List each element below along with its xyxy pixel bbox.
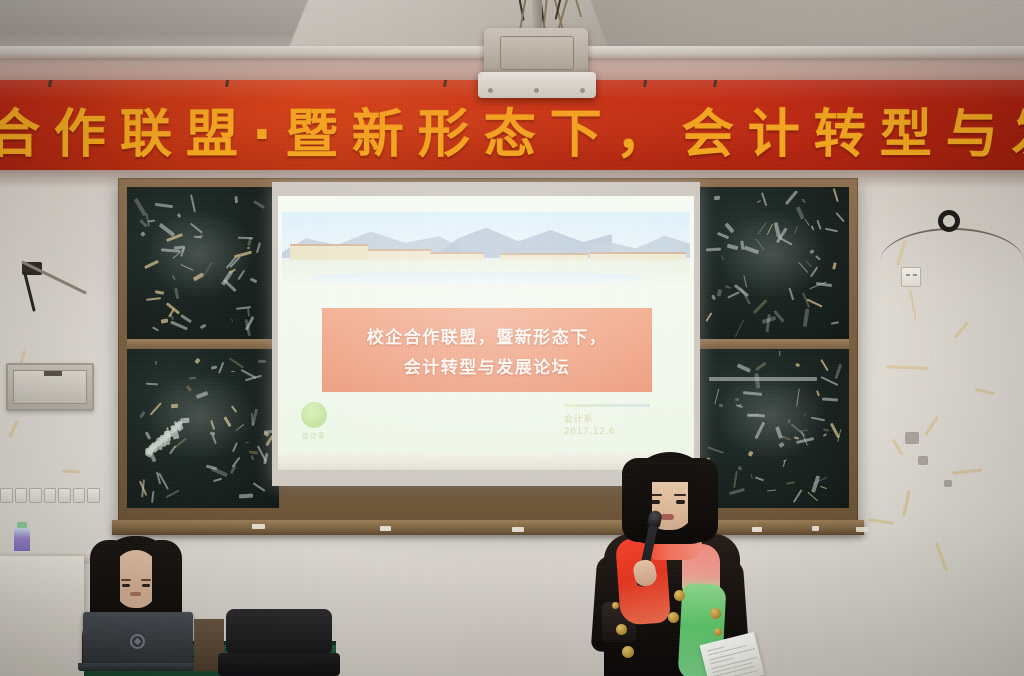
chalk-smudge — [145, 371, 255, 461]
power-outlet[interactable] — [15, 488, 28, 503]
chalk-mark — [145, 297, 160, 301]
panel-latch[interactable] — [44, 371, 62, 376]
gold-button — [612, 602, 619, 609]
gold-button — [714, 628, 722, 636]
gold-button — [710, 608, 721, 619]
chair-seat — [218, 653, 340, 676]
slide-logo-text: 会计系 — [302, 431, 326, 441]
chalk-mark — [830, 422, 840, 437]
projector-panel — [500, 36, 574, 70]
chalk-mark — [757, 200, 761, 203]
wall-socket[interactable] — [901, 267, 921, 287]
chalk-mark — [825, 228, 838, 232]
slide-credit-date: 2017.12.6 — [564, 427, 615, 437]
power-outlet[interactable] — [29, 488, 42, 503]
chalk-mark — [155, 361, 158, 366]
chalk-mark — [793, 489, 803, 503]
chair[interactable] — [216, 609, 342, 676]
chalk-mark — [779, 351, 781, 356]
chalk-mark — [218, 362, 224, 374]
eye — [651, 500, 660, 504]
wall-scuff — [905, 432, 919, 444]
podium — [0, 556, 84, 676]
chalk-mark — [761, 193, 768, 207]
chalk-mark — [245, 442, 250, 444]
chalk-mark — [834, 364, 842, 379]
chalkboard-top-right — [699, 187, 849, 339]
laptop-lid — [83, 612, 193, 664]
electrical-panel — [6, 363, 94, 411]
chalk-mark — [258, 360, 266, 363]
chalk-mark — [820, 359, 828, 371]
projector — [478, 0, 596, 104]
logo-circle-icon — [301, 402, 327, 428]
power-outlet[interactable] — [73, 488, 86, 503]
eye — [142, 584, 150, 587]
chalk-smudge — [145, 209, 255, 299]
chalk-mark — [832, 262, 837, 270]
chalk-piece[interactable] — [512, 527, 524, 532]
campus-lake — [312, 272, 642, 284]
chalk-mark — [165, 490, 179, 499]
chalk-mark — [833, 188, 839, 202]
chalk-smudge — [717, 371, 827, 461]
chalk-mark — [711, 295, 716, 301]
chalk-mark — [803, 309, 809, 327]
chalk-mark — [774, 310, 786, 323]
slide-department-logo: 会计系 — [294, 402, 334, 448]
power-outlet[interactable] — [58, 488, 71, 503]
chalk-mark — [755, 362, 767, 371]
chair-backrest — [226, 609, 332, 653]
campus-panorama-image — [282, 212, 690, 288]
chalk-mark — [229, 357, 244, 368]
chalk-mark — [835, 212, 844, 222]
slide-title-line-2: 会计转型与发展论坛 — [404, 353, 571, 378]
banner-clip — [48, 80, 53, 87]
chalk-piece[interactable] — [812, 526, 819, 531]
banner-clip — [713, 80, 718, 87]
chalk-mark — [735, 320, 744, 337]
seated-operator-mouth — [130, 592, 141, 596]
chalk-piece[interactable] — [380, 526, 391, 531]
eyebrow — [674, 494, 686, 496]
chalk-mark — [831, 321, 839, 325]
chalk-mark — [725, 285, 731, 289]
wall-ring-hook-icon — [938, 210, 960, 232]
banner-clip — [225, 80, 230, 87]
chalk-mark — [786, 482, 795, 485]
projection-screen: 校企合作联盟，暨新形态下， 会计转型与发展论坛 会计系 会计系 2017.12.… — [272, 182, 700, 486]
chalk-mark — [195, 358, 201, 364]
chalk-piece[interactable] — [856, 527, 868, 532]
chalk-mark — [728, 291, 740, 298]
ceiling-beam-right — [591, 0, 1024, 52]
projector-screw — [580, 88, 585, 93]
slide-credit-org: 会计系 — [564, 412, 593, 425]
chalk-mark — [151, 491, 155, 503]
chalkboard-bottom-left — [127, 349, 279, 508]
chalk-mark — [180, 314, 192, 323]
eye — [676, 500, 685, 504]
chalk-mark — [250, 278, 258, 284]
chalk-mark — [767, 489, 776, 491]
chalk-mark — [141, 232, 146, 237]
slide-content: 校企合作联盟，暨新形态下， 会计转型与发展论坛 会计系 会计系 2017.12.… — [278, 196, 694, 470]
chalk-mark — [211, 366, 218, 370]
chalk-mark — [231, 318, 233, 322]
chalkboard-top-left — [127, 187, 279, 339]
projector-screw — [534, 88, 539, 93]
chalk-mark — [765, 315, 770, 333]
chalk-mark — [200, 324, 206, 329]
chalk-mark — [264, 453, 269, 465]
power-outlet[interactable] — [44, 488, 57, 503]
power-outlet[interactable] — [0, 488, 13, 503]
projector-screw — [488, 88, 493, 93]
chalk-mark — [231, 371, 235, 373]
eyebrow — [121, 579, 131, 581]
chalk-mark — [148, 219, 155, 222]
chalk-mark — [246, 307, 249, 316]
banner-clip — [443, 80, 448, 87]
chalk-mark — [239, 494, 253, 499]
slide-credit-block: 会计系 2017.12.6 — [564, 404, 672, 437]
chalk-mark — [160, 318, 168, 323]
banner-clip — [643, 80, 648, 87]
projector-mount-arm — [532, 0, 542, 30]
chalk-mark — [252, 482, 265, 492]
chalk-mark — [801, 199, 806, 204]
wall-scuff — [944, 480, 952, 487]
chalk-mark — [795, 363, 800, 367]
chalk-mark — [705, 312, 712, 322]
chalk-mark — [213, 478, 222, 483]
gold-button — [622, 646, 634, 658]
chalk-mark — [714, 195, 720, 200]
chalk-piece[interactable] — [252, 524, 265, 529]
chalk-mark — [234, 196, 237, 203]
speaker-bangs — [636, 458, 702, 482]
chalk-mark — [785, 190, 799, 205]
standing-speaker — [582, 452, 762, 676]
chalk-mark — [752, 299, 767, 314]
laptop-base — [78, 663, 198, 671]
dell-logo-icon — [130, 634, 145, 649]
chalk-mark — [251, 455, 254, 461]
slide-title-band: 校企合作联盟，暨新形态下， 会计转型与发展论坛 — [322, 308, 652, 392]
power-outlet[interactable] — [87, 488, 100, 503]
chalk-mark — [155, 291, 165, 296]
scene-root: 合作联盟·暨新形态下，会计转型与发展 — [0, 0, 1024, 676]
eye — [122, 584, 130, 587]
chalk-mark — [256, 243, 261, 254]
slide-credit-rule — [564, 404, 650, 407]
gold-button — [616, 624, 627, 635]
chalk-mark — [253, 200, 265, 209]
chalk-mark — [737, 363, 751, 372]
projector-cable — [574, 0, 582, 18]
chalk-mark — [822, 398, 838, 402]
chalk-mark — [171, 320, 189, 330]
power-outlet-strip[interactable] — [0, 487, 100, 504]
eyebrow — [141, 579, 151, 581]
chalk-mark — [811, 475, 820, 493]
chalk-mark — [155, 203, 173, 208]
slide-title-line-1: 校企合作联盟，暨新形态下， — [367, 323, 608, 348]
chalk-mark — [134, 198, 147, 216]
wall-scuff — [918, 456, 928, 465]
chalk-mark — [820, 486, 827, 489]
chalk-mark — [146, 383, 158, 385]
chalk-mark — [823, 433, 828, 437]
chalk-smudge — [717, 209, 827, 299]
chalk-mark — [807, 492, 818, 502]
chalk-mark — [152, 327, 159, 332]
projector-base-plate — [478, 72, 596, 98]
chalk-mark — [249, 450, 258, 454]
laptop[interactable] — [83, 612, 193, 672]
chalk-mark — [717, 289, 723, 297]
